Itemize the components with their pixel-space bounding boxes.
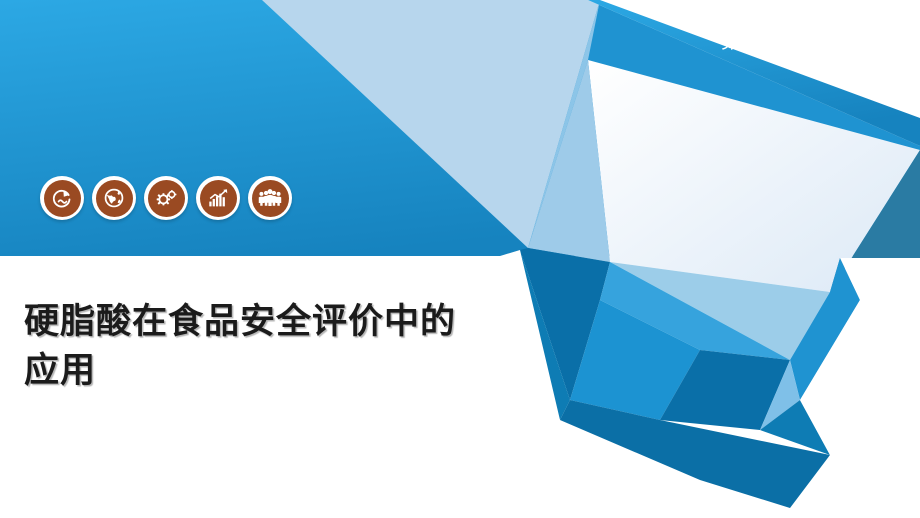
people-group-icon (252, 180, 289, 217)
page-title-line-1: 硬脂酸在食品安全评价中的 (24, 297, 544, 346)
page-title-line-2: 应用 (24, 346, 544, 395)
gears-icon (148, 180, 185, 217)
icon-badge-globe[interactable] (92, 176, 136, 220)
page-title: 硬脂酸在食品安全评价中的 应用 (24, 297, 544, 395)
presentation-title-slide: 数智创新 变革未来 (0, 0, 920, 518)
icon-badge-bar-chart-growth[interactable] (196, 176, 240, 220)
icon-badge-gears[interactable] (144, 176, 188, 220)
icon-badge-people-group[interactable] (248, 176, 292, 220)
refresh-cycle-icon (44, 180, 81, 217)
decorative-polygon-background (0, 0, 920, 518)
bar-chart-growth-icon (200, 180, 237, 217)
slide-tagline: 数智创新 变革未来 (721, 29, 904, 55)
icon-badge-refresh-cycle[interactable] (40, 176, 84, 220)
icon-row (40, 176, 292, 220)
globe-icon (96, 180, 133, 217)
